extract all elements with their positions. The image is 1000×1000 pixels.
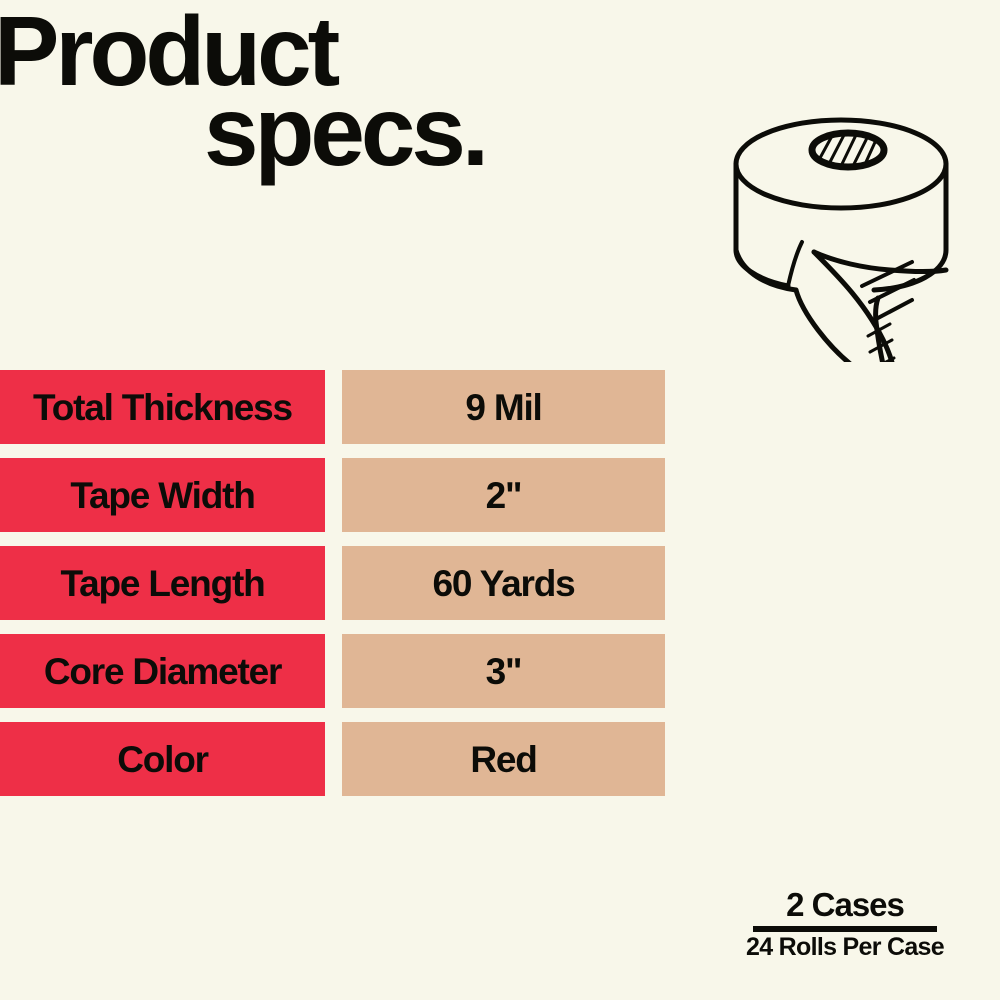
spec-label-tape-width: Tape Width (70, 477, 254, 514)
page-title: Product specs. (0, 0, 680, 210)
table-row: Tape Width 2" (0, 458, 700, 532)
spec-value-core-diameter: 3" (486, 653, 522, 690)
packaging-quantity: 2 Cases (700, 888, 990, 923)
spec-value-total-thickness: 9 Mil (465, 389, 541, 426)
spec-value-cell: 3" (342, 634, 665, 708)
spec-label-tape-length: Tape Length (61, 565, 265, 602)
spec-label-cell: Color (0, 722, 325, 796)
spec-label-cell: Tape Width (0, 458, 325, 532)
spec-label-cell: Core Diameter (0, 634, 325, 708)
spec-label-cell: Tape Length (0, 546, 325, 620)
spec-table: Total Thickness 9 Mil Tape Width 2" Tape… (0, 370, 700, 796)
packaging-divider (753, 926, 937, 932)
spec-value-tape-length: 60 Yards (433, 565, 575, 602)
spec-label-color: Color (117, 741, 208, 778)
spec-label-total-thickness: Total Thickness (33, 389, 292, 426)
spec-value-cell: 9 Mil (342, 370, 665, 444)
spec-value-tape-width: 2" (486, 477, 522, 514)
spec-value-cell: 60 Yards (342, 546, 665, 620)
spec-value-color: Red (470, 741, 536, 778)
spec-value-cell: Red (342, 722, 665, 796)
packaging-summary: 2 Cases 24 Rolls Per Case (700, 888, 990, 960)
table-row: Color Red (0, 722, 700, 796)
table-row: Core Diameter 3" (0, 634, 700, 708)
spec-value-cell: 2" (342, 458, 665, 532)
spec-label-cell: Total Thickness (0, 370, 325, 444)
spec-label-core-diameter: Core Diameter (44, 653, 281, 690)
tape-roll-icon (718, 100, 982, 362)
table-row: Total Thickness 9 Mil (0, 370, 700, 444)
packaging-per-case: 24 Rolls Per Case (700, 934, 990, 960)
product-specs-infographic: Product specs. (0, 0, 1000, 1000)
table-row: Tape Length 60 Yards (0, 546, 700, 620)
page-title-line-2: specs. (204, 82, 485, 180)
